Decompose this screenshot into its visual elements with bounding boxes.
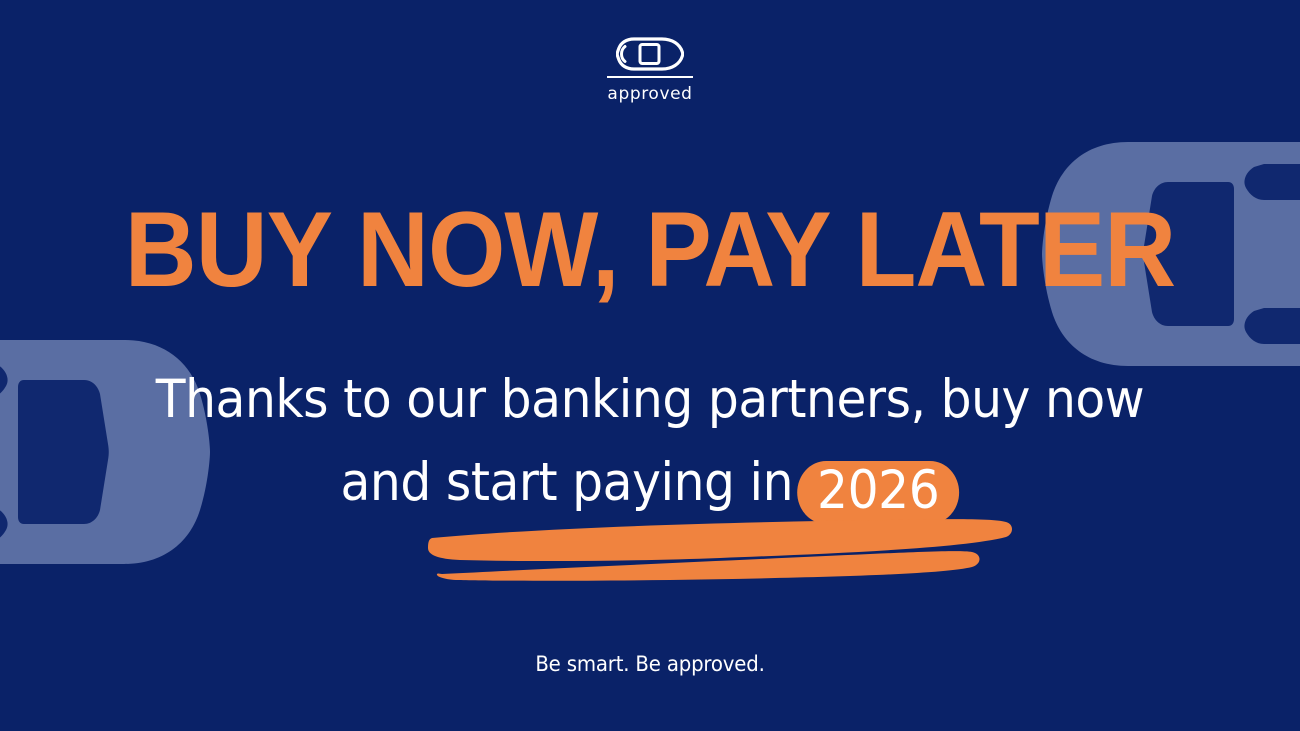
- promo-banner: approved BUY NOW, PAY LATER Thanks to ou…: [0, 0, 1300, 731]
- logo-wordmark: approved: [607, 84, 692, 104]
- subheading-line-2-text: and start paying in: [340, 452, 793, 513]
- page-title: BUY NOW, PAY LATER: [46, 196, 1255, 303]
- subheading: Thanks to our banking partners, buy now …: [52, 358, 1248, 524]
- car-top-view-icon: [616, 37, 684, 71]
- subheading-line-1: Thanks to our banking partners, buy now: [52, 358, 1248, 441]
- logo-divider: [607, 76, 693, 78]
- highlight-year-badge: 2026: [797, 461, 960, 524]
- subheading-line-2: and start paying in2026: [52, 441, 1248, 524]
- tagline: Be smart. Be approved.: [39, 652, 1261, 676]
- brand-logo: approved: [0, 37, 1300, 104]
